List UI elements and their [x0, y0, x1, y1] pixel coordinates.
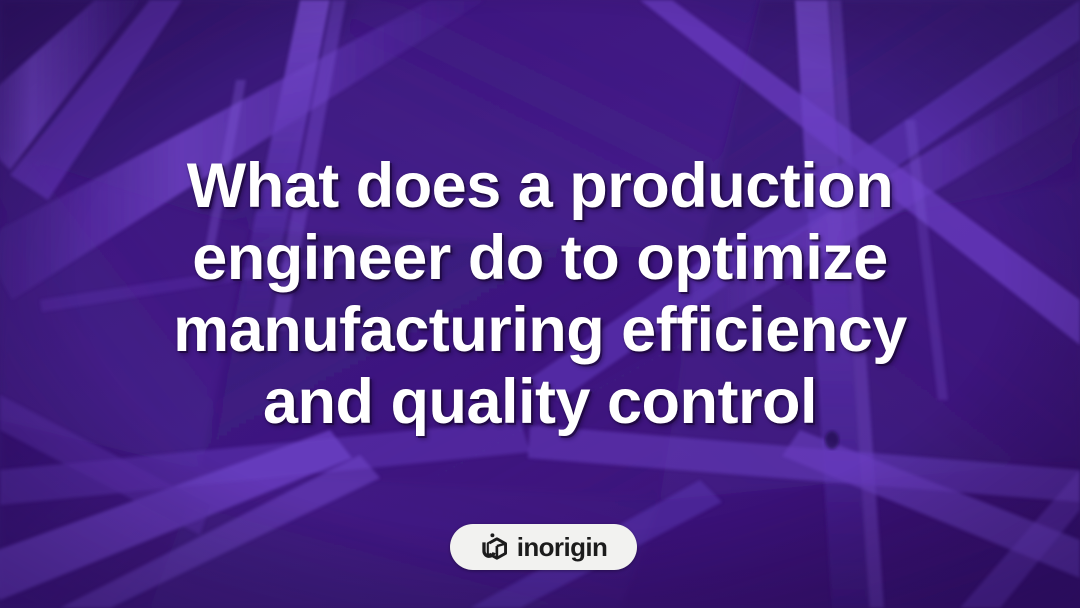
headline-line-2: engineer do to optimize: [40, 222, 1040, 294]
banner-card: What does a production engineer do to op…: [0, 0, 1080, 608]
headline-line-4: and quality control: [40, 366, 1040, 438]
brand-logo[interactable]: inorigin: [450, 524, 637, 570]
page-title: What does a production engineer do to op…: [0, 150, 1080, 438]
headline-line-3: manufacturing efficiency: [40, 294, 1040, 366]
headline-line-1: What does a production: [40, 150, 1040, 222]
hexagon-cube-icon: [480, 532, 510, 562]
brand-wordmark: inorigin: [517, 534, 608, 560]
